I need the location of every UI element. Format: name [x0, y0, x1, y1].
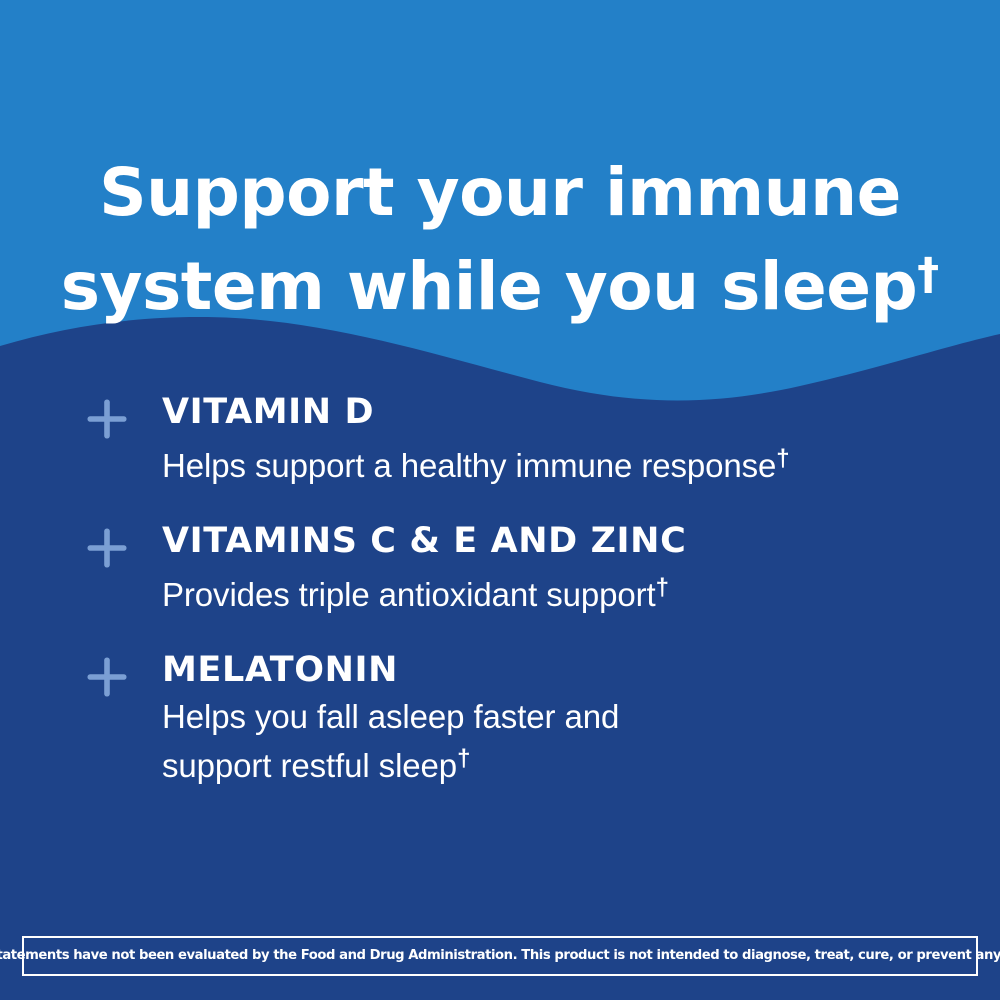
benefit-description-line-2-wrap: support restful sleep†: [162, 738, 966, 787]
benefit-title: VITAMIN D: [162, 392, 966, 432]
dagger-symbol: †: [656, 574, 669, 601]
headline-line-2-wrap: system while you sleep†: [0, 234, 1000, 328]
dagger-symbol: †: [457, 745, 470, 772]
benefit-description: Helps you fall asleep faster andsupport …: [162, 696, 966, 787]
disclaimer-text: †These statements have not been evaluate…: [0, 948, 1000, 964]
dagger-symbol: †: [776, 445, 789, 472]
plus-icon: [86, 398, 128, 440]
benefit-description-line-1: Provides triple antioxidant support†: [162, 567, 966, 616]
benefit-description-line-2: support restful sleep: [162, 747, 457, 784]
list-item: MELATONIN Helps you fall asleep faster a…: [86, 650, 966, 787]
plus-icon: [86, 527, 128, 569]
plus-icon: [86, 656, 128, 698]
benefit-description: Helps support a healthy immune response†: [162, 438, 966, 487]
benefit-title: MELATONIN: [162, 650, 966, 690]
benefit-description-line-1: Helps support a healthy immune response†: [162, 438, 966, 487]
benefit-description-text: Provides triple antioxidant support: [162, 576, 656, 613]
headline-line-2: system while you sleep: [61, 248, 918, 325]
disclaimer-box: †These statements have not been evaluate…: [22, 936, 978, 976]
benefits-list: VITAMIN D Helps support a healthy immune…: [86, 392, 966, 787]
list-item: VITAMINS C & E AND ZINC Provides triple …: [86, 521, 966, 616]
benefit-description-text: Helps support a healthy immune response: [162, 447, 776, 484]
benefit-title: VITAMINS C & E AND ZINC: [162, 521, 966, 561]
headline-line-1: Support your immune: [0, 152, 1000, 234]
list-item: VITAMIN D Helps support a healthy immune…: [86, 392, 966, 487]
benefit-description-line-1: Helps you fall asleep faster and: [162, 696, 966, 738]
dagger-symbol: †: [917, 249, 939, 300]
page-title: Support your immune system while you sle…: [0, 152, 1000, 328]
promo-banner: Support your immune system while you sle…: [0, 0, 1000, 1000]
benefit-description: Provides triple antioxidant support†: [162, 567, 966, 616]
